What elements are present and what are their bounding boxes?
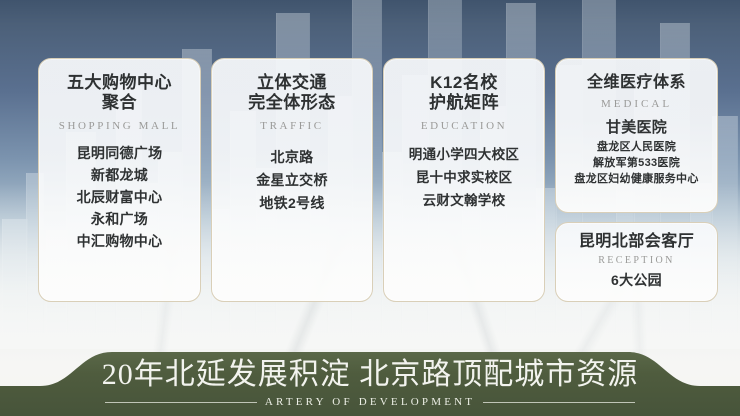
card-subtitle: MEDICAL [601, 98, 672, 110]
list-item: 中汇购物中心 [45, 232, 194, 250]
list-item: 盘龙区人民医院 [562, 140, 711, 155]
card-reception[interactable]: 昆明北部会客厅 RECEPTION 6大公园 [555, 222, 718, 302]
banner-title: 20年北延发展积淀 北京路顶配城市资源 [102, 358, 639, 392]
card-title: K12名校 护航矩阵 [429, 73, 499, 113]
list-item-featured: 甘美医院 [562, 118, 711, 138]
divider-line-right [483, 402, 635, 403]
card-shopping[interactable]: 五大购物中心 聚合 SHOPPING MALL 昆明同德广场 新都龙城 北辰财富… [38, 58, 201, 302]
list-item: 北辰财富中心 [45, 188, 194, 206]
card-title: 立体交通 完全体形态 [248, 73, 336, 113]
card-item-list: 昆明同德广场 新都龙城 北辰财富中心 永和广场 中汇购物中心 [45, 144, 194, 250]
list-item: 永和广场 [45, 210, 194, 228]
card-title: 全维医疗体系 [587, 73, 686, 93]
card-education[interactable]: K12名校 护航矩阵 EDUCATION 明通小学四大校区 昆十中求实校区 云财… [383, 58, 545, 302]
banner-subtitle: ARTERY OF DEVELOPMENT [265, 396, 475, 408]
list-item: 地铁2号线 [218, 194, 366, 212]
card-item-list: 北京路 金星立交桥 地铁2号线 [218, 148, 366, 212]
card-subtitle: EDUCATION [421, 120, 507, 132]
banner-subtitle-row: ARTERY OF DEVELOPMENT [105, 396, 635, 408]
list-item: 明通小学四大校区 [390, 146, 538, 164]
card-subtitle: RECEPTION [598, 255, 675, 266]
card-title: 五大购物中心 聚合 [67, 73, 172, 113]
list-item: 6大公园 [562, 271, 711, 289]
list-item: 北京路 [218, 148, 366, 166]
banner-content: 20年北延发展积淀 北京路顶配城市资源 ARTERY OF DEVELOPMEN… [0, 346, 740, 416]
card-item-list: 明通小学四大校区 昆十中求实校区 云财文翰学校 [390, 146, 538, 210]
bottom-banner: 20年北延发展积淀 北京路顶配城市资源 ARTERY OF DEVELOPMEN… [0, 346, 740, 416]
card-title: 昆明北部会客厅 [579, 232, 695, 252]
list-item: 云财文翰学校 [390, 192, 538, 210]
card-item-list: 甘美医院 盘龙区人民医院 解放军第533医院 盘龙区妇幼健康服务中心 [562, 118, 711, 187]
divider-line-left [105, 402, 257, 403]
card-subtitle: SHOPPING MALL [59, 120, 181, 132]
poster-canvas: 五大购物中心 聚合 SHOPPING MALL 昆明同德广场 新都龙城 北辰财富… [0, 0, 740, 416]
card-traffic[interactable]: 立体交通 完全体形态 TRAFFIC 北京路 金星立交桥 地铁2号线 [211, 58, 373, 302]
list-item: 新都龙城 [45, 166, 194, 184]
card-medical[interactable]: 全维医疗体系 MEDICAL 甘美医院 盘龙区人民医院 解放军第533医院 盘龙… [555, 58, 718, 213]
card-subtitle: TRAFFIC [260, 120, 323, 132]
card-item-list: 6大公园 [562, 271, 711, 289]
list-item: 盘龙区妇幼健康服务中心 [562, 172, 711, 187]
list-item: 昆十中求实校区 [390, 169, 538, 187]
list-item: 昆明同德广场 [45, 144, 194, 162]
list-item: 金星立交桥 [218, 171, 366, 189]
list-item: 解放军第533医院 [562, 156, 711, 171]
